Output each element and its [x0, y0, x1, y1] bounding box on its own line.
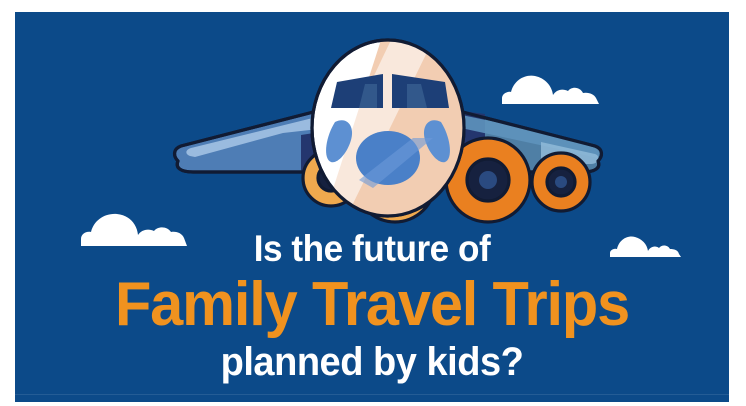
wheel-near-right-small — [532, 153, 590, 211]
bottom-divider — [15, 394, 729, 395]
cloud-icon-top-right — [498, 68, 606, 110]
headline-block: Is the future of Family Travel Trips pla… — [15, 230, 729, 382]
headline-line-1: Is the future of — [33, 230, 711, 267]
screenshot-canvas: Is the future of Family Travel Trips pla… — [0, 0, 746, 406]
headline-line-2-emphasis: Family Travel Trips — [29, 274, 714, 336]
headline-line-3: planned by kids? — [33, 342, 711, 382]
airplane-illustration — [133, 30, 643, 230]
infographic-poster: Is the future of Family Travel Trips pla… — [15, 12, 729, 402]
